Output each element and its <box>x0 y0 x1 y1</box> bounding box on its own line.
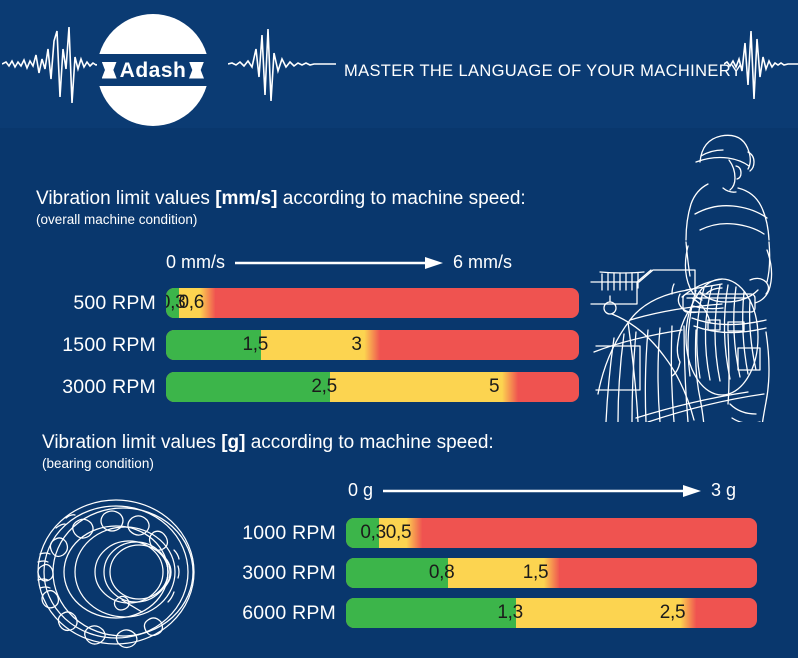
velocity-row-1500: 1500 RPM 1,5 3 <box>46 330 579 360</box>
title-prefix: Vibration limit values <box>42 432 221 453</box>
section-velocity-header: Vibration limit values [mm/s] according … <box>36 188 526 227</box>
bearing-bar-6000-warning-value: 2,5 <box>660 602 686 624</box>
waveform-icon-left <box>2 19 102 109</box>
velocity-bar-1500-warning-value: 3 <box>351 334 361 356</box>
logo-wordmark: Adash <box>120 60 187 81</box>
section-bearing-header: Vibration limit values [g] according to … <box>42 432 494 471</box>
velocity-bar-3000-good-value: 2,5 <box>311 376 337 398</box>
logo-chevron-left-icon <box>102 62 117 79</box>
velocity-bar-1500-warning-segment <box>261 330 380 360</box>
title-prefix: Vibration limit values <box>36 188 215 209</box>
bearing-bar-1000-good-value: 0,3 <box>360 522 386 544</box>
velocity-scale-axis: 0 mm/s 6 mm/s <box>166 252 512 273</box>
technician-illustration <box>588 122 798 422</box>
velocity-row-3000: 3000 RPM 2,5 5 <box>46 372 579 402</box>
velocity-bar-1500-good-value: 1,5 <box>242 334 268 356</box>
bearing-bar-3000: 0,8 1,5 <box>346 558 757 588</box>
section-bearing-subtitle: (bearing condition) <box>42 456 494 471</box>
bearing-illustration <box>26 492 206 652</box>
bearing-scale-axis: 0 g 3 g <box>348 480 736 501</box>
bearing-scale-min-label: 0 g <box>348 480 373 501</box>
velocity-bar-500: 0,3 0,6 <box>166 288 579 318</box>
section-bearing-title: Vibration limit values [g] according to … <box>42 432 494 454</box>
bearing-bar-1000-warning-value: 0,5 <box>386 522 412 544</box>
section-velocity-title: Vibration limit values [mm/s] according … <box>36 188 526 210</box>
velocity-rpm-label-1500: 1500 RPM <box>46 334 156 357</box>
bearing-row-6000: 6000 RPM 1,3 2,5 <box>218 598 757 628</box>
bearing-scale-max-label: 3 g <box>711 480 736 501</box>
velocity-scale-max-label: 6 mm/s <box>453 252 512 273</box>
logo-band: Adash <box>97 54 209 86</box>
brand-header: Adash MASTER THE LANGUAGE OF YOUR MACHIN… <box>0 0 798 128</box>
velocity-bar-1500: 1,5 3 <box>166 330 579 360</box>
title-unit: [g] <box>221 432 245 453</box>
tagline: MASTER THE LANGUAGE OF YOUR MACHINERY <box>344 62 742 81</box>
adash-logo: Adash <box>97 14 209 126</box>
arrow-right-icon <box>383 484 701 498</box>
title-unit: [mm/s] <box>215 188 277 209</box>
velocity-rpm-label-500: 500 RPM <box>46 292 156 315</box>
title-suffix: according to machine speed: <box>277 188 525 209</box>
velocity-bar-3000-warning-value: 5 <box>489 376 499 398</box>
velocity-rpm-label-3000: 3000 RPM <box>46 376 156 399</box>
arrow-right-icon <box>235 256 443 270</box>
bearing-bar-3000-warning-value: 1,5 <box>523 562 549 584</box>
logo-chevron-right-icon <box>189 62 204 79</box>
bearing-bar-1000: 0,3 0,5 <box>346 518 757 548</box>
bearing-rpm-label-6000: 6000 RPM <box>218 602 336 625</box>
section-velocity-subtitle: (overall machine condition) <box>36 212 526 227</box>
bearing-rpm-label-1000: 1000 RPM <box>218 522 336 545</box>
bearing-row-3000: 3000 RPM 0,8 1,5 <box>218 558 757 588</box>
velocity-row-500: 500 RPM 0,3 0,6 <box>46 288 579 318</box>
velocity-bar-3000: 2,5 5 <box>166 372 579 402</box>
velocity-scale-min-label: 0 mm/s <box>166 252 225 273</box>
waveform-icon-middle <box>228 19 336 109</box>
infographic-canvas: Adash MASTER THE LANGUAGE OF YOUR MACHIN… <box>0 0 798 658</box>
bearing-bar-6000-good-value: 1,3 <box>497 602 523 624</box>
velocity-bar-500-warning-value: 0,6 <box>179 292 205 314</box>
waveform-icon-right <box>724 19 798 109</box>
bearing-rpm-label-3000: 3000 RPM <box>218 562 336 585</box>
title-suffix: according to machine speed: <box>245 432 493 453</box>
bearing-row-1000: 1000 RPM 0,3 0,5 <box>218 518 757 548</box>
bearing-bar-3000-good-value: 0,8 <box>429 562 455 584</box>
bearing-bar-6000: 1,3 2,5 <box>346 598 757 628</box>
